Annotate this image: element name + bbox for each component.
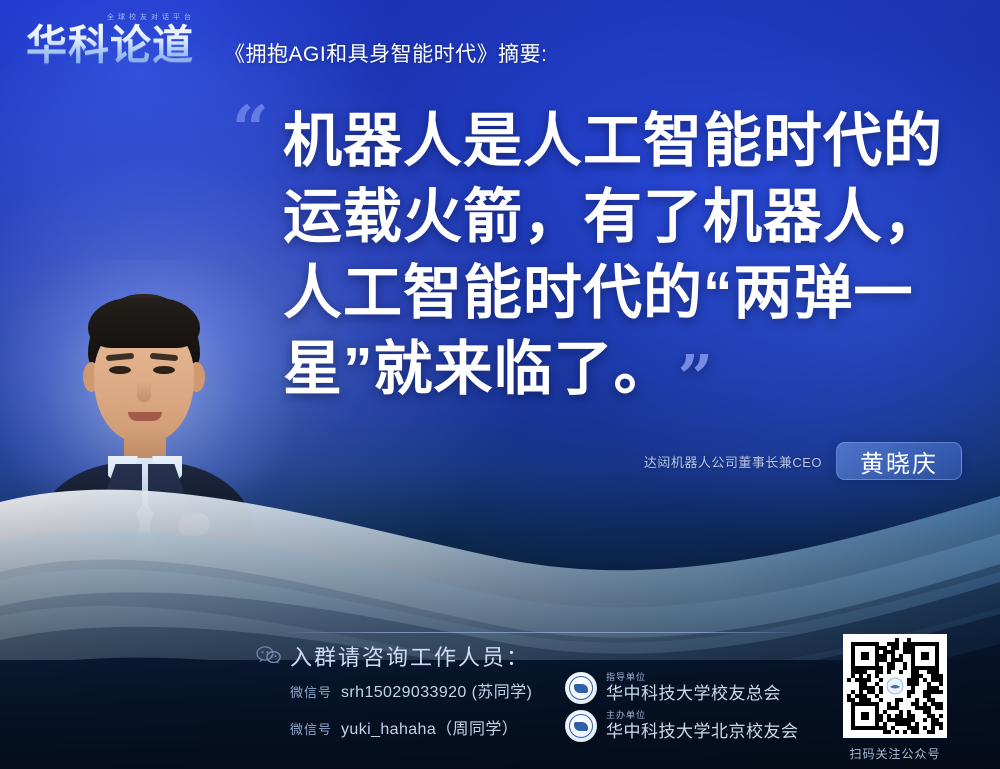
portrait-jacket [36, 462, 254, 556]
portrait-ear-right [188, 362, 205, 392]
poster-canvas: 全球校友对话平台 华科论道 《拥抱AGI和具身智能时代》摘要: “ 机器人是人工… [0, 0, 1000, 769]
portrait-fringe [88, 298, 200, 348]
contact-row-1: 微信号 srh15029033920 (苏同学) [290, 678, 532, 702]
speaker-name-badge: 黄晓庆 [836, 442, 962, 480]
footer-divider [288, 632, 798, 633]
speaker-role: 达闼机器人公司董事长兼CEO [644, 452, 822, 471]
speaker-portrait [28, 288, 260, 556]
portrait-collar-left [108, 456, 138, 498]
qr-section: 扫码关注公众号 [843, 634, 947, 762]
portrait-arm-left [31, 499, 143, 563]
header: 全球校友对话平台 华科论道 《拥抱AGI和具身智能时代》摘要: [0, 0, 1000, 92]
quote-text: 机器人是人工智能时代的运载火箭，有了机器人，人工智能时代的“两弹一星”就来临了。… [283, 103, 943, 407]
portrait-collar-right [152, 456, 182, 498]
university-seal-icon [565, 710, 597, 742]
organization-name-2: 华中科技大学北京校友会 [606, 722, 799, 742]
organization-role-2: 主办单位 [606, 710, 799, 721]
contact-value-2: yuki_hahaha（周同学） [341, 715, 518, 739]
qr-code-pattern [847, 638, 943, 734]
contact-value-1: srh15029033920 (苏同学) [341, 678, 532, 702]
portrait-ear-left [83, 362, 100, 392]
organization-name-1: 华中科技大学校友总会 [606, 684, 781, 704]
contact-heading: 入群请咨询工作人员： [290, 640, 530, 672]
portrait-arm-right [147, 499, 259, 563]
wechat-icon [256, 646, 282, 664]
logo-wordmark: 华科论道 [26, 21, 222, 69]
qr-code-image[interactable] [843, 634, 947, 738]
organization-text-2: 主办单位 华中科技大学北京校友会 [606, 710, 799, 742]
qr-caption: 扫码关注公众号 [843, 745, 947, 762]
portrait-hand [176, 512, 211, 539]
quote-open-mark: “ [232, 98, 269, 162]
contact-label-2: 微信号 [290, 719, 332, 738]
organization-role-1: 指导单位 [606, 672, 781, 683]
portrait-brow-left [106, 353, 134, 361]
portrait-halo [0, 260, 294, 560]
portrait-hair [88, 294, 200, 386]
brand-logo: 全球校友对话平台 华科论道 [26, 12, 222, 70]
portrait-neck [124, 432, 166, 472]
attribution: 达闼机器人公司董事长兼CEO 黄晓庆 [644, 443, 962, 479]
portrait-shirt [104, 458, 186, 556]
contact-row-2: 微信号 yuki_hahaha（周同学） [290, 715, 518, 739]
portrait-brow-right [150, 353, 178, 361]
portrait-eye-left [109, 366, 131, 374]
portrait-nose [137, 380, 151, 402]
portrait-eye-right [153, 366, 175, 374]
portrait-lapel-right [148, 464, 192, 556]
page-title: 《拥抱AGI和具身智能时代》摘要: [224, 38, 548, 68]
portrait-face [94, 318, 194, 442]
organization-row-2: 主办单位 华中科技大学北京校友会 [565, 710, 799, 742]
university-seal-icon [565, 672, 597, 704]
contact-label-1: 微信号 [290, 682, 332, 701]
organization-text-1: 指导单位 华中科技大学校友总会 [606, 672, 781, 704]
quote-text-content: 机器人是人工智能时代的运载火箭，有了机器人，人工智能时代的“两弹一星”就来临了。 [283, 108, 943, 402]
portrait-mouth [128, 412, 162, 421]
organization-row-1: 指导单位 华中科技大学校友总会 [565, 672, 781, 704]
portrait-lapel-left [98, 464, 142, 556]
